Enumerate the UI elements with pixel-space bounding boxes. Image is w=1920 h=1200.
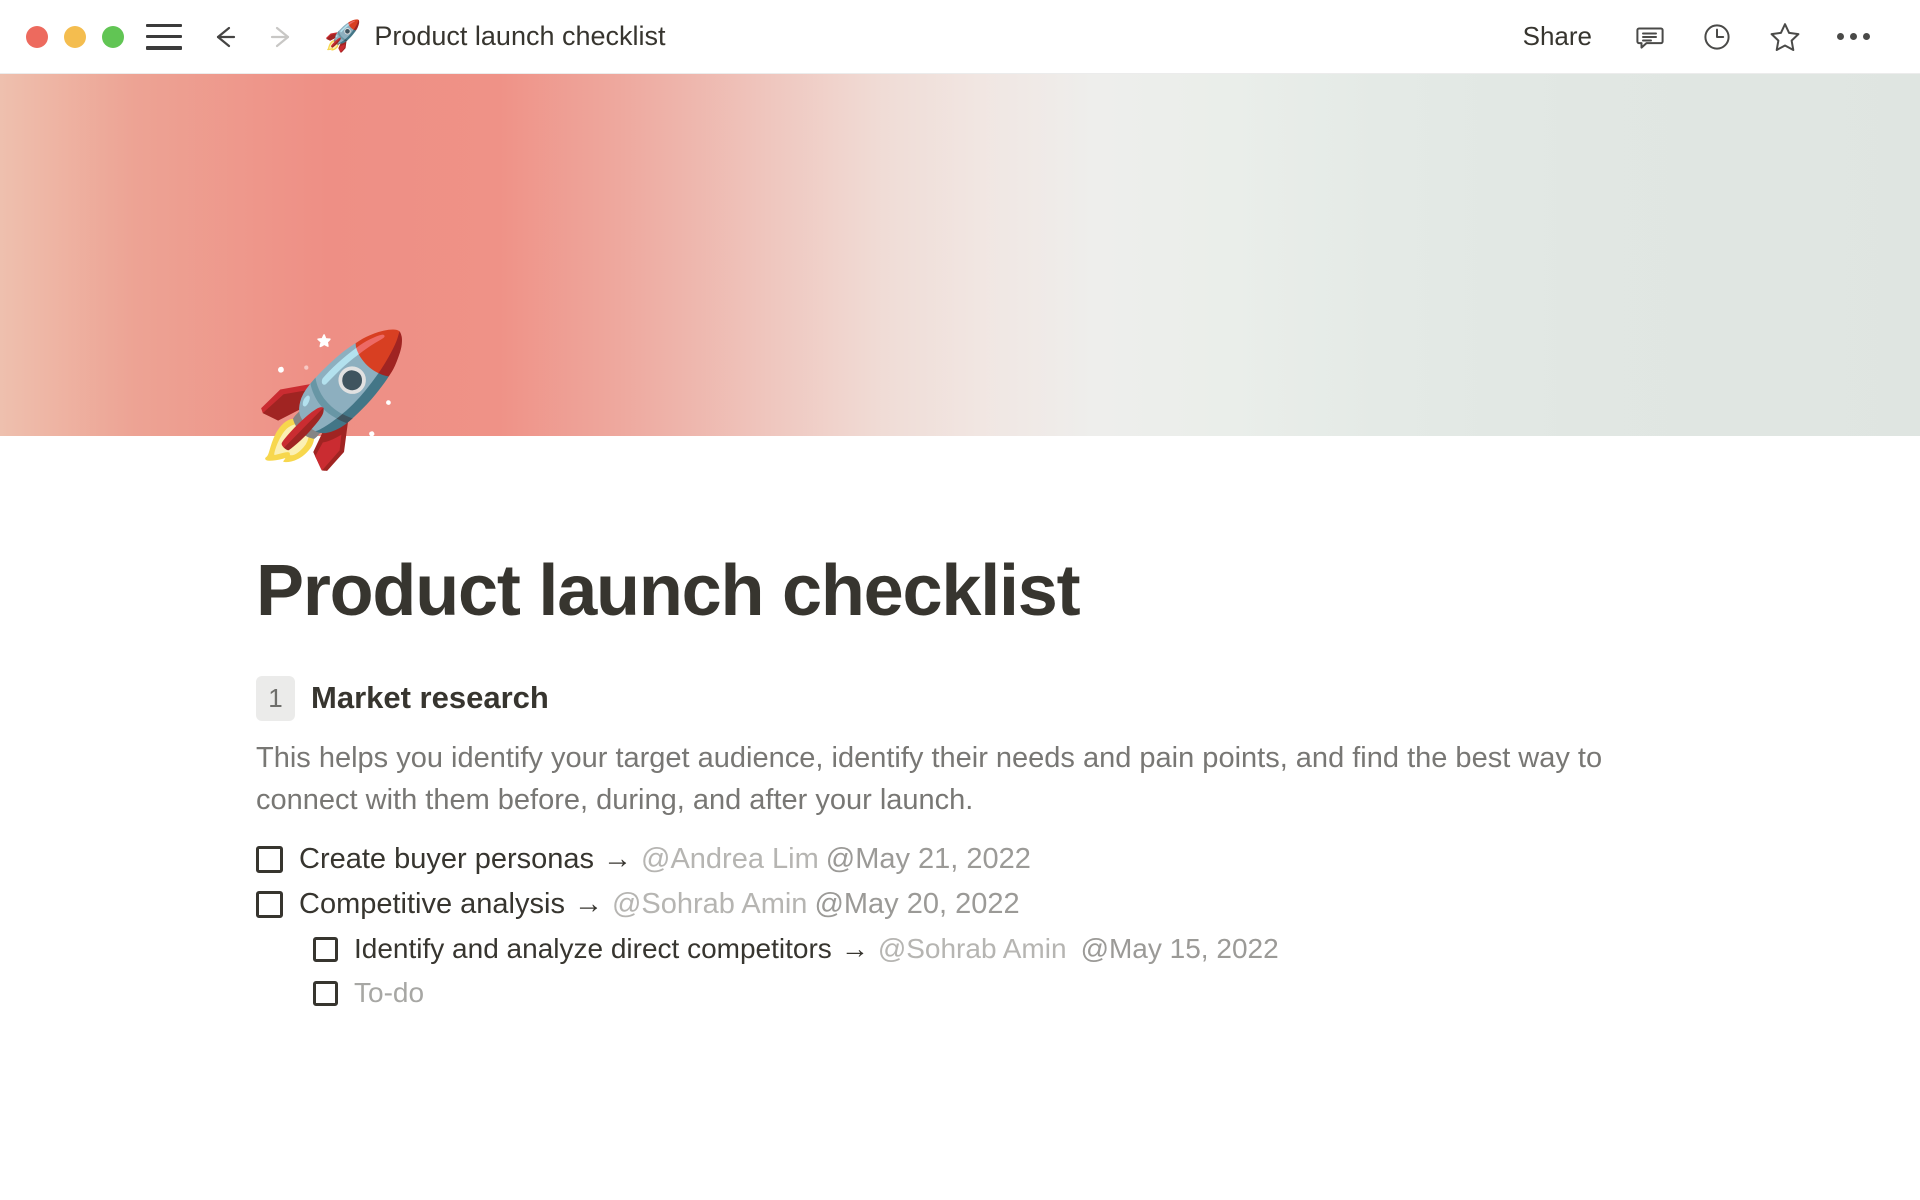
more-options-icon[interactable] (1834, 18, 1872, 56)
checkbox-unchecked-icon[interactable] (256, 846, 283, 873)
hamburger-line (146, 35, 182, 39)
todo-label: Create buyer personas (299, 843, 594, 875)
section-description[interactable]: This helps you identify your target audi… (256, 737, 1616, 822)
window-controls (26, 26, 124, 48)
hamburger-line (146, 46, 182, 50)
arrow-right-icon: → (572, 888, 605, 920)
dot (1863, 33, 1870, 40)
share-button[interactable]: Share (1515, 17, 1600, 56)
checkbox-unchecked-icon[interactable] (313, 981, 338, 1006)
star-icon[interactable] (1766, 18, 1804, 56)
section-number-badge: 1 (256, 676, 295, 721)
dot (1837, 33, 1844, 40)
minimize-window-button[interactable] (64, 26, 86, 48)
page-title[interactable]: Product launch checklist (256, 554, 1920, 630)
person-mention[interactable]: @Sohrab Amin (612, 888, 807, 920)
page-content: Product launch checklist 1 Market resear… (0, 436, 1920, 1015)
todo-text[interactable]: Competitive analysis→@Sohrab Amin@May 20… (299, 888, 1020, 921)
window-titlebar: 🚀 Product launch checklist Share (0, 0, 1920, 74)
arrow-right-icon: → (601, 843, 634, 875)
document-title: Product launch checklist (374, 21, 665, 52)
dot (1850, 33, 1857, 40)
hamburger-menu-icon[interactable] (146, 24, 182, 50)
todo-placeholder[interactable]: To-do (354, 977, 424, 1009)
checkbox-unchecked-icon[interactable] (313, 937, 338, 962)
todo-item-nested[interactable]: Identify and analyze direct competitors→… (256, 927, 1920, 971)
hamburger-line (146, 24, 182, 28)
date-mention[interactable]: @May 20, 2022 (814, 888, 1019, 920)
document-identity[interactable]: 🚀 Product launch checklist (324, 21, 666, 52)
page-icon-rocket-icon[interactable]: 🚀 (252, 336, 411, 464)
person-mention[interactable]: @Andrea Lim (641, 843, 819, 875)
todo-label: Competitive analysis (299, 888, 565, 920)
arrow-right-icon: → (839, 933, 871, 964)
rocket-icon: 🚀 (324, 22, 361, 52)
navigation-arrows (208, 20, 298, 54)
date-mention[interactable]: @May 15, 2022 (1081, 933, 1279, 964)
todo-label: Identify and analyze direct competitors (354, 933, 832, 964)
todo-item[interactable]: Create buyer personas→@Andrea Lim@May 21… (256, 837, 1920, 882)
back-arrow-icon[interactable] (208, 20, 242, 54)
section-title[interactable]: Market research (311, 680, 549, 716)
date-mention[interactable]: @May 21, 2022 (826, 843, 1031, 875)
titlebar-actions: Share (1515, 17, 1894, 56)
checkbox-unchecked-icon[interactable] (256, 891, 283, 918)
maximize-window-button[interactable] (102, 26, 124, 48)
forward-arrow-icon[interactable] (264, 20, 298, 54)
close-window-button[interactable] (26, 26, 48, 48)
page-body: 🚀 Product launch checklist 1 Market rese… (0, 436, 1920, 1015)
todo-item[interactable]: Competitive analysis→@Sohrab Amin@May 20… (256, 882, 1920, 927)
person-mention[interactable]: @Sohrab Amin (878, 933, 1067, 964)
history-clock-icon[interactable] (1698, 18, 1736, 56)
todo-text[interactable]: Create buyer personas→@Andrea Lim@May 21… (299, 843, 1031, 876)
comment-icon[interactable] (1630, 18, 1668, 56)
todo-item-nested-empty[interactable]: To-do (256, 971, 1920, 1015)
todo-text[interactable]: Identify and analyze direct competitors→… (354, 933, 1279, 965)
section-heading: 1 Market research (256, 676, 1920, 721)
